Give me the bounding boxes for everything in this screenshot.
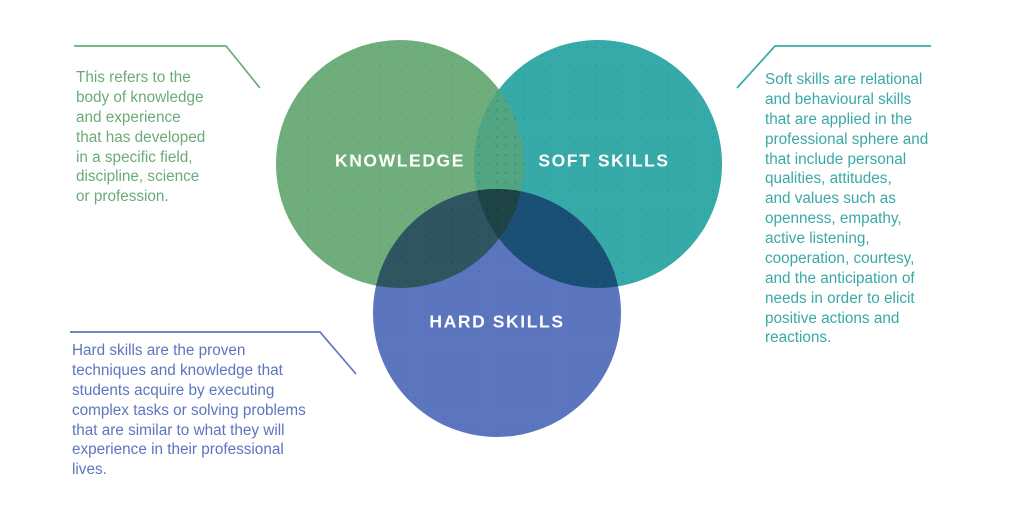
soft-skills-callout: Soft skills are relational and behaviour…	[765, 70, 1015, 348]
hard-skills-callout-text: Hard skills are the proven techniques an…	[72, 341, 362, 480]
infographic-page: KNOWLEDGE SOFT SKILLS HARD SKILLS This r…	[0, 0, 1024, 516]
knowledge-callout-text: This refers to the body of knowledge and…	[76, 68, 306, 207]
knowledge-callout: This refers to the body of knowledge and…	[76, 68, 306, 207]
hard-skills-callout: Hard skills are the proven techniques an…	[72, 341, 362, 480]
soft-skills-callout-text: Soft skills are relational and behaviour…	[765, 70, 1015, 348]
